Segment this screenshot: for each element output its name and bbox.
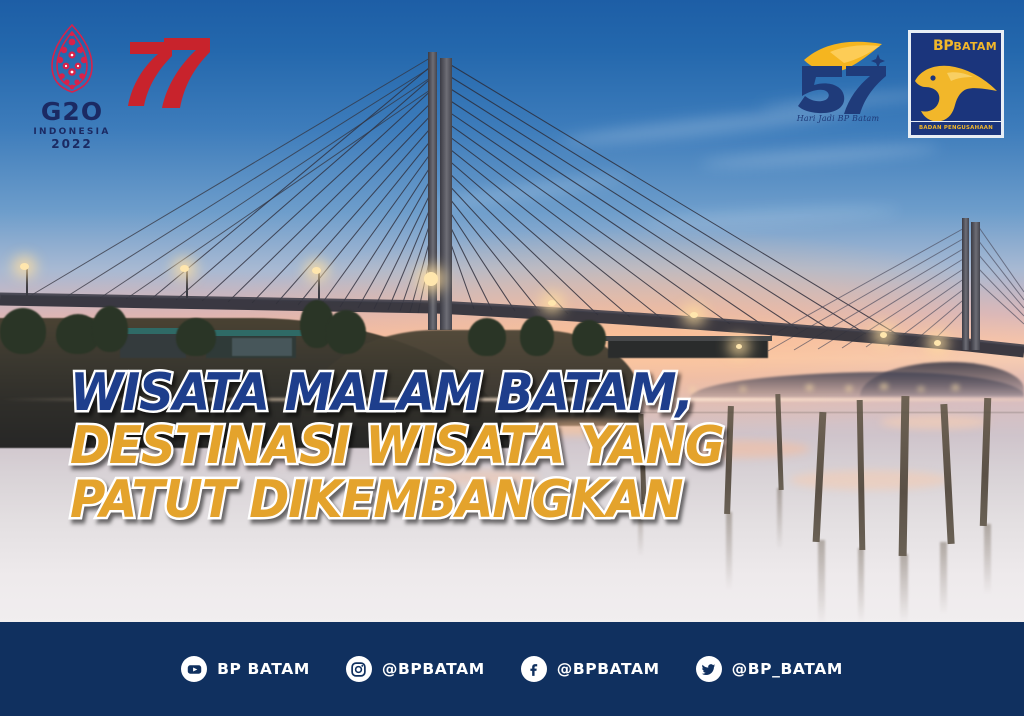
water-pole-reflection <box>900 554 908 622</box>
social-item-facebook[interactable]: @BPBATAM <box>521 656 660 682</box>
bp-batam-logo-inner: BPBATAM BADAN PENGUSAHAAN BATAM <box>911 33 1001 135</box>
shore-light <box>736 344 742 349</box>
tree <box>176 318 216 356</box>
lamp-post <box>186 270 188 298</box>
lamp-light <box>20 263 29 270</box>
lamp-post <box>318 272 320 300</box>
bp-batam-seahorse-icon <box>911 51 1001 131</box>
lamp-light <box>690 312 698 318</box>
social-item-youtube[interactable]: BP BATAM <box>181 656 310 682</box>
tree <box>572 320 606 356</box>
bp-batam-logo: BPBATAM BADAN PENGUSAHAAN BATAM <box>908 30 1004 138</box>
g20-year: 2022 <box>26 138 118 151</box>
shore-building <box>608 340 768 358</box>
tree <box>468 318 506 356</box>
tree <box>0 308 46 354</box>
seventy-seven-icon <box>126 32 212 114</box>
lamp-light <box>548 300 556 306</box>
youtube-icon[interactable] <box>181 656 207 682</box>
social-item-twitter[interactable]: @BP_BATAM <box>696 656 843 682</box>
headline-line-1: WISATA MALAM BATAM, <box>70 368 870 419</box>
social-footer-bar: BP BATAM @BPBATAM @BPBATAM <box>0 622 1024 716</box>
water-pole-reflection <box>818 540 825 624</box>
indonesia-77-logo <box>126 32 212 114</box>
pylon-base-light <box>424 272 438 286</box>
g20-logo: G2O INDONESIA 2022 <box>26 22 118 144</box>
water-pole <box>899 396 910 556</box>
water-pole-reflection <box>858 548 864 622</box>
bridge-pylon-right-b <box>971 222 980 350</box>
bp-batam-57-anniversary-logo: Hari Jadi BP Batam <box>786 36 890 136</box>
social-handle-twitter: @BP_BATAM <box>732 660 843 678</box>
headline-line-2: DESTINASI WISATA YANG <box>70 421 870 472</box>
shore-building <box>232 338 292 356</box>
water-reflection <box>880 415 990 429</box>
headline-line-3: PATUT DIKEMBANGKAN <box>70 475 870 526</box>
lamp-light <box>312 267 321 274</box>
shore-building-roof <box>604 336 772 341</box>
tree <box>326 310 366 354</box>
bridge-pylon-left-a <box>428 52 437 330</box>
poster-root: G2O INDONESIA 2022 Hari Jadi BP Batam <box>0 0 1024 716</box>
g20-gunungan-icon <box>36 22 108 98</box>
bp-batam-subtitle: BADAN PENGUSAHAAN BATAM <box>911 121 1001 135</box>
lamp-post <box>26 268 28 298</box>
social-item-instagram[interactable]: @BPBATAM <box>346 656 485 682</box>
lamp-light <box>934 340 941 346</box>
lamp-light <box>880 332 887 338</box>
social-handle-instagram: @BPBATAM <box>382 660 485 678</box>
g20-wordmark: G2O <box>26 99 118 124</box>
anniversary-tagline: Hari Jadi BP Batam <box>788 114 888 123</box>
bridge-pylon-right-a <box>962 218 969 350</box>
facebook-icon[interactable] <box>521 656 547 682</box>
tree <box>92 306 128 352</box>
bridge-pylon-left-b <box>440 58 452 330</box>
water-pole-reflection <box>984 524 991 594</box>
twitter-icon[interactable] <box>696 656 722 682</box>
fifty-seven-icon <box>786 36 890 116</box>
tree <box>520 316 554 356</box>
instagram-icon[interactable] <box>346 656 372 682</box>
lamp-light <box>180 265 189 272</box>
water-pole-reflection <box>940 542 947 614</box>
social-handle-youtube: BP BATAM <box>217 660 310 678</box>
social-handle-facebook: @BPBATAM <box>557 660 660 678</box>
headline-block: WISATA MALAM BATAM, DESTINASI WISATA YAN… <box>70 368 870 528</box>
